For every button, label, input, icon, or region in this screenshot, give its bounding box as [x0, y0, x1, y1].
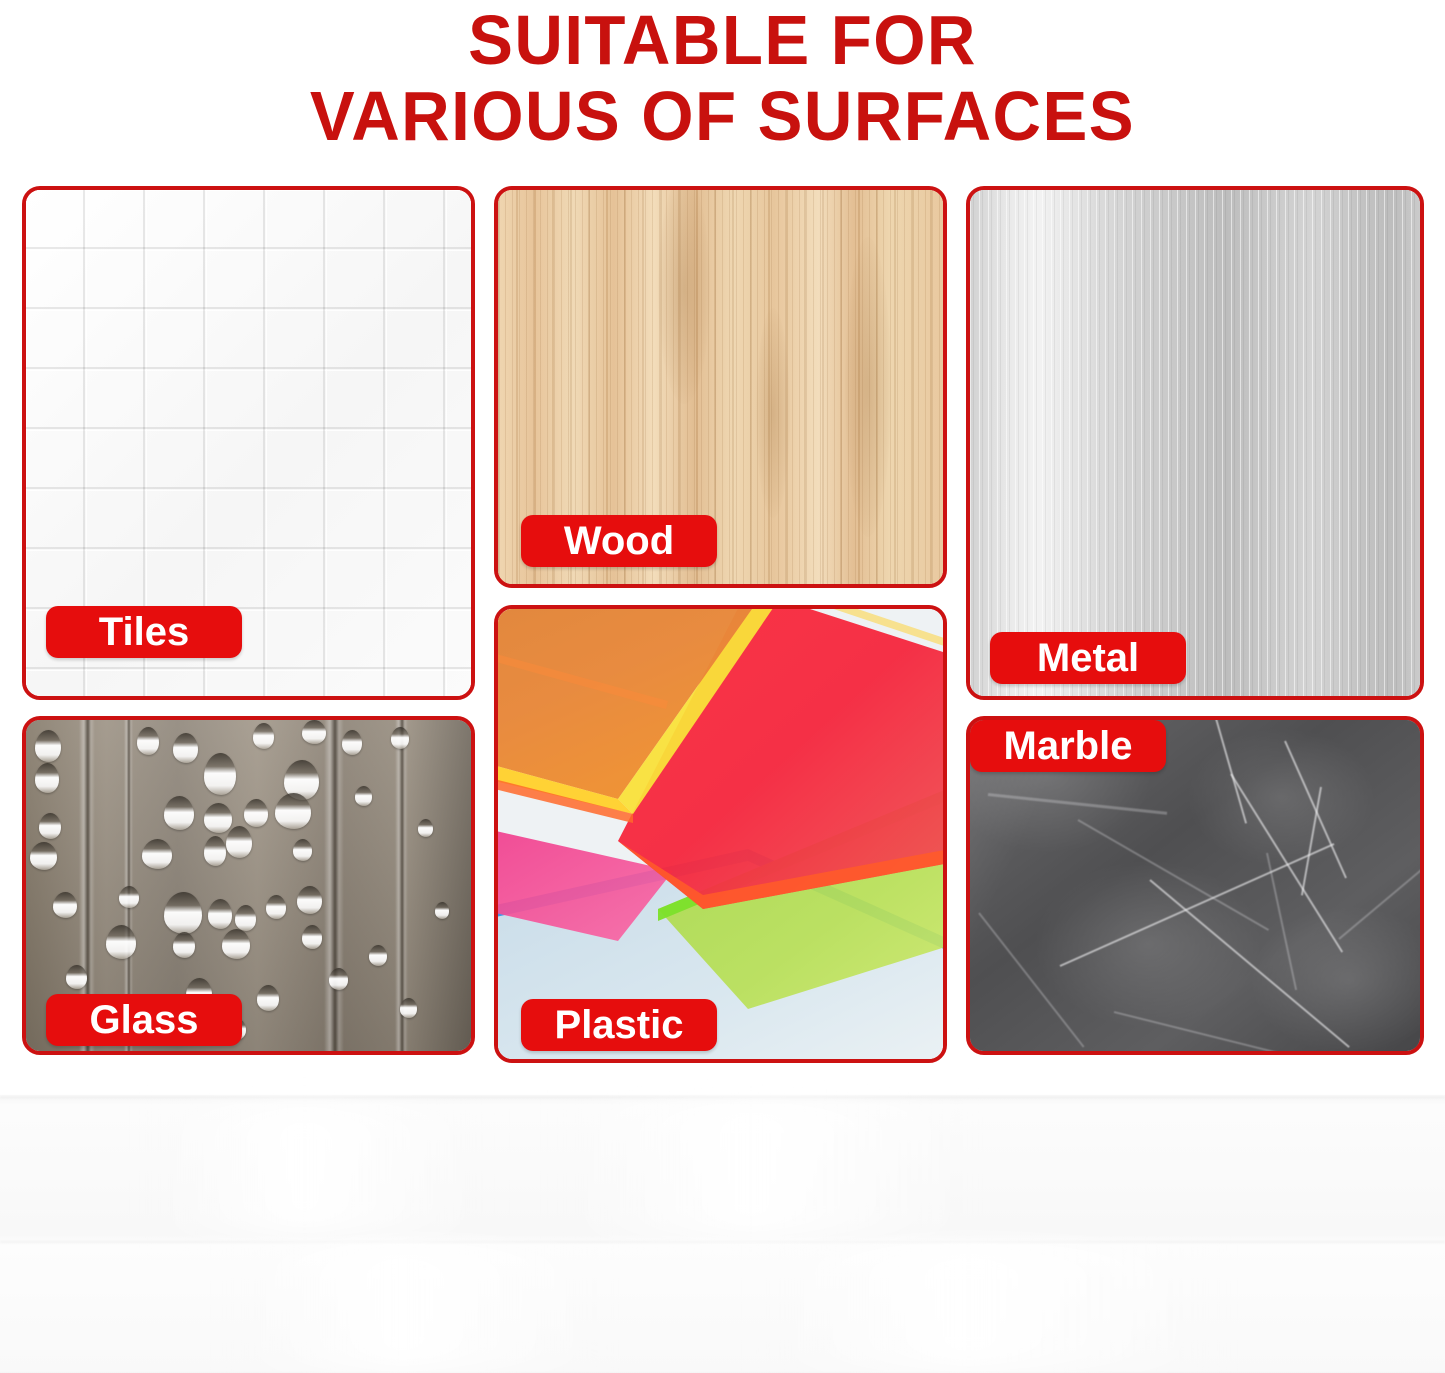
water-droplet	[342, 730, 362, 755]
water-droplet	[226, 826, 252, 858]
surface-card-plastic: Plastic	[494, 605, 947, 1063]
water-droplet	[235, 905, 256, 931]
title-line-1: SUITABLE FOR	[29, 2, 1416, 78]
surface-label-plastic: Plastic	[521, 999, 717, 1051]
water-droplet	[435, 902, 449, 919]
surface-label-wood: Wood	[521, 515, 717, 567]
page-title: SUITABLE FOR VARIOUS OF SURFACES	[0, 2, 1445, 154]
surface-card-tiles: Tiles	[22, 186, 475, 700]
water-streak	[324, 716, 344, 1055]
water-droplet	[164, 892, 202, 934]
wood-grain-knot	[845, 237, 891, 537]
wood-grain-knot	[658, 186, 710, 404]
surface-highlight	[230, 1245, 610, 1371]
wood-grain-knot	[756, 308, 790, 518]
surface-card-wood: Wood	[494, 186, 947, 588]
water-droplet	[302, 720, 326, 744]
surface-label-metal: Metal	[990, 632, 1186, 684]
water-droplet	[418, 819, 433, 837]
water-droplet	[222, 929, 250, 959]
water-droplet	[66, 965, 87, 989]
surface-highlight	[150, 1105, 490, 1235]
surface-seam	[0, 1241, 1445, 1243]
surface-card-marble: Marble	[966, 716, 1424, 1055]
surface-highlight	[560, 1099, 980, 1239]
water-droplet	[293, 839, 312, 861]
surface-card-glass: Glass	[22, 716, 475, 1055]
acrylic-sheets-illustration	[498, 609, 943, 1059]
water-droplet	[204, 836, 226, 866]
water-droplet	[35, 730, 61, 762]
water-droplet	[253, 723, 274, 749]
surface-label-marble: Marble	[970, 720, 1166, 772]
water-droplet	[119, 886, 139, 908]
water-droplet	[369, 945, 387, 966]
surface-seam	[0, 1096, 1445, 1098]
water-droplet	[106, 925, 136, 959]
product-surface-backdrop	[0, 1095, 1445, 1373]
water-droplet	[35, 763, 59, 793]
water-droplet	[329, 968, 348, 990]
metal-texture	[970, 190, 1420, 696]
water-droplet	[275, 793, 311, 829]
water-droplet	[164, 796, 194, 830]
water-droplet	[208, 899, 232, 929]
water-droplet	[137, 727, 159, 755]
water-droplet	[257, 985, 279, 1011]
water-droplet	[244, 799, 268, 827]
water-droplet	[173, 733, 198, 763]
water-droplet	[173, 932, 195, 958]
plastic-texture	[498, 609, 943, 1059]
water-droplet	[391, 727, 409, 749]
water-droplet	[297, 886, 322, 914]
water-droplet	[266, 895, 286, 919]
water-droplet	[204, 803, 232, 833]
water-droplet	[355, 786, 372, 806]
water-droplet	[400, 998, 417, 1018]
surface-label-tiles: Tiles	[46, 606, 242, 658]
marble-mottle	[1249, 905, 1424, 1055]
infographic-root: SUITABLE FOR VARIOUS OF SURFACES Tiles W…	[0, 0, 1445, 1373]
water-droplet	[53, 892, 77, 918]
water-droplet	[39, 813, 61, 839]
title-line-2: VARIOUS OF SURFACES	[29, 78, 1416, 154]
water-droplet	[302, 925, 322, 949]
surface-card-metal: Metal	[966, 186, 1424, 700]
surface-highlight	[760, 1245, 1220, 1371]
surface-label-glass: Glass	[46, 994, 242, 1046]
water-droplet	[204, 753, 236, 795]
water-droplet	[142, 839, 172, 869]
water-droplet	[30, 842, 57, 870]
marble-mottle	[1186, 727, 1376, 867]
